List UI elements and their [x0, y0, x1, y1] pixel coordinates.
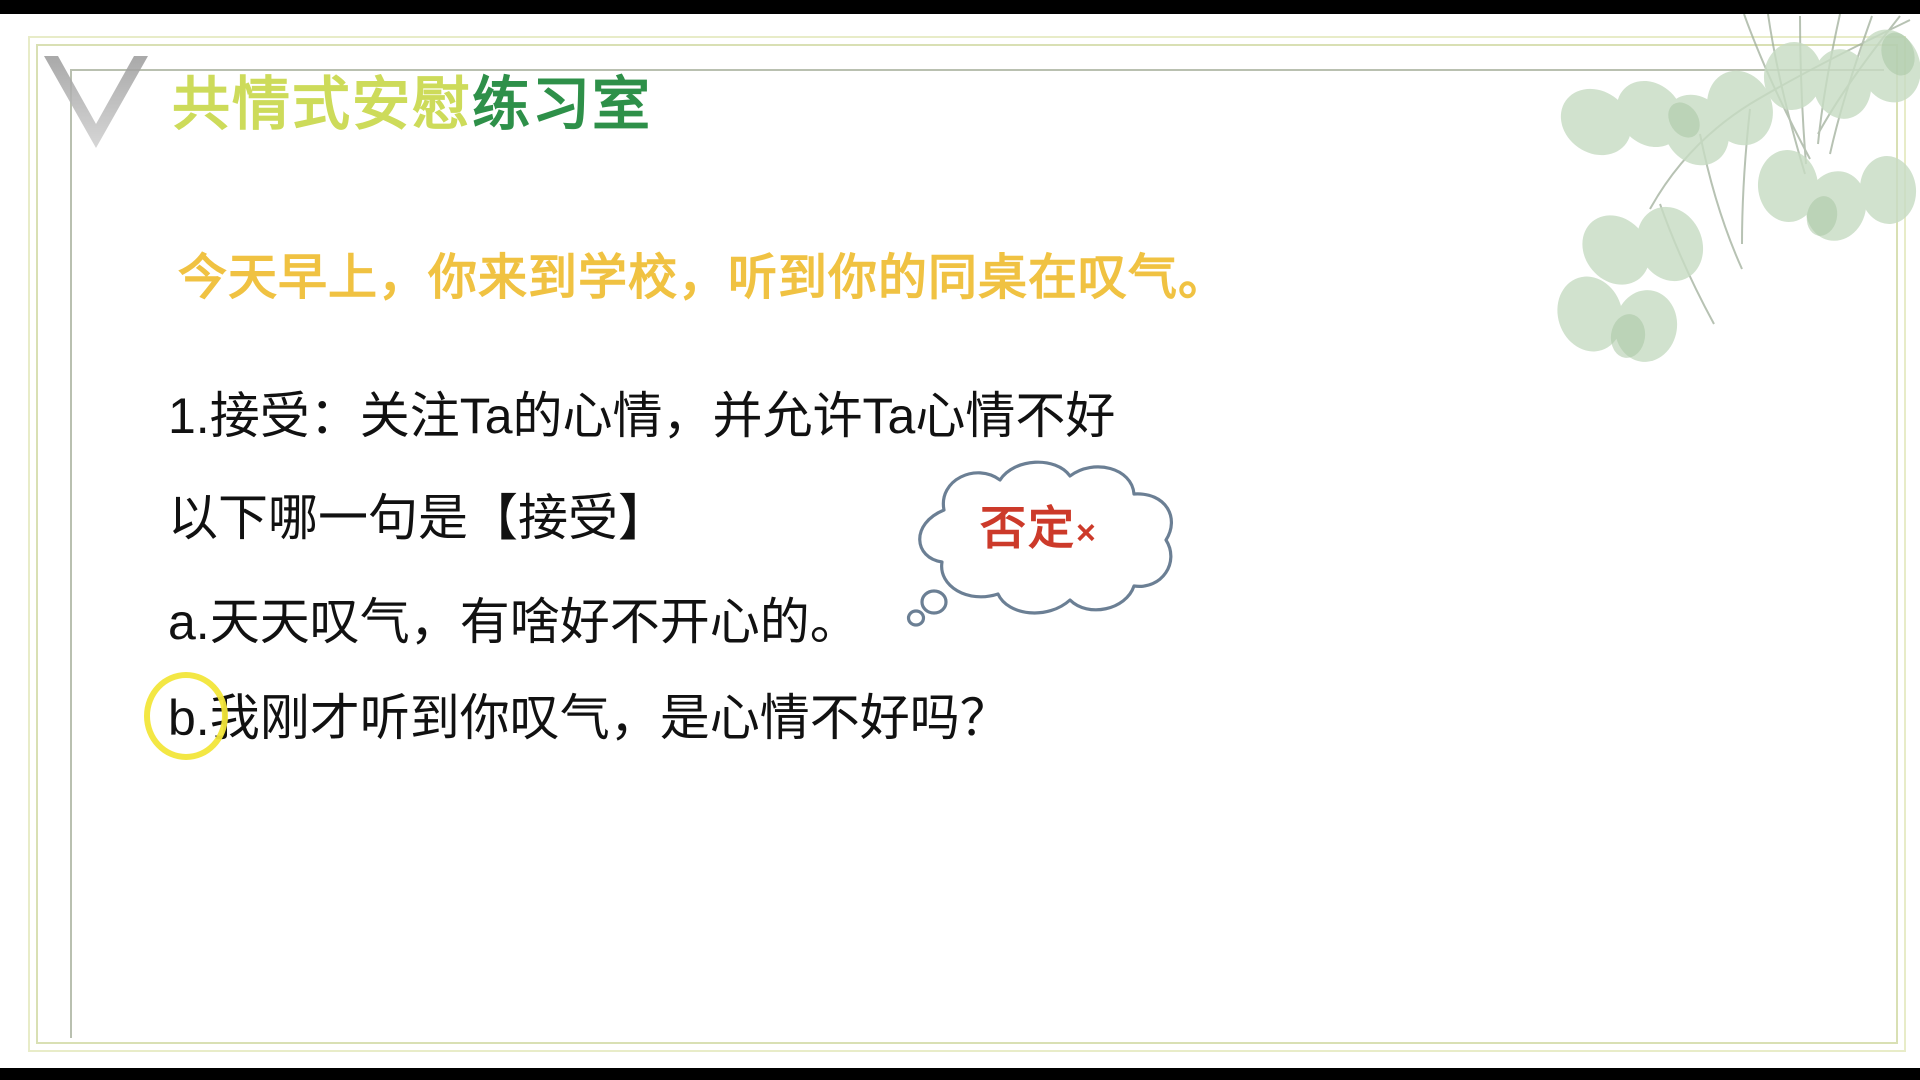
answer-option-a[interactable]: a.天天叹气，有啥好不开心的。 — [168, 582, 860, 654]
slide-content: 共情式安慰练习室 今天早上，你来到学校，听到你的同桌在叹气。 1.接受：关注Ta… — [0, 14, 1920, 1068]
question-prompt: 以下哪一句是【接受】 — [168, 478, 668, 550]
slide-stage: 共情式安慰练习室 今天早上，你来到学校，听到你的同桌在叹气。 1.接受：关注Ta… — [0, 0, 1920, 1080]
letterbox-bottom — [0, 1068, 1920, 1080]
page-title: 共情式安慰练习室 — [172, 72, 652, 139]
page-title-part-1: 共情式安慰 — [172, 72, 472, 137]
option-b-highlight-circle — [144, 672, 228, 760]
scenario-subtitle: 今天早上，你来到学校，听到你的同桌在叹气。 — [178, 238, 1228, 309]
slide-canvas: 共情式安慰练习室 今天早上，你来到学校，听到你的同桌在叹气。 1.接受：关注Ta… — [0, 14, 1920, 1068]
thought-bubble-label: 否定× — [980, 492, 1098, 558]
page-title-part-2: 练习室 — [472, 72, 652, 137]
cross-mark-icon: × — [1076, 514, 1098, 552]
letterbox-top — [0, 0, 1920, 14]
answer-option-b[interactable]: b.我刚才听到你叹气，是心情不好吗？ — [168, 678, 1010, 750]
thought-bubble-text: 否定 — [980, 502, 1076, 554]
rule-line: 1.接受：关注Ta的心情，并允许Ta心情不好 — [168, 376, 1115, 448]
